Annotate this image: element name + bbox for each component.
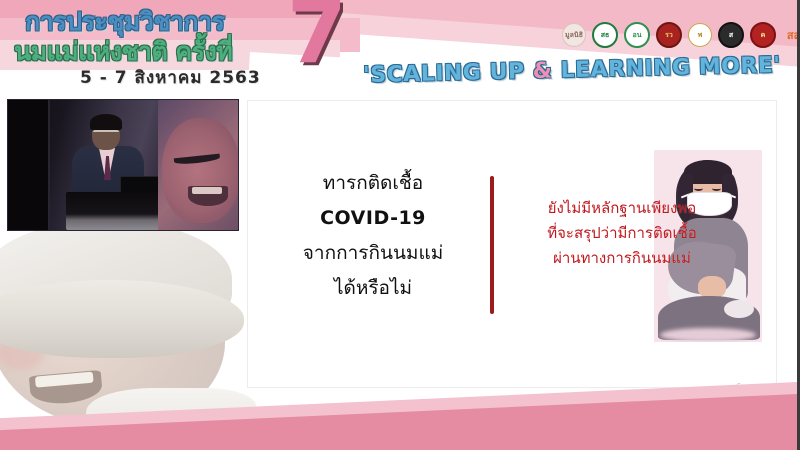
logo-mark-text: อน <box>633 30 642 41</box>
stage-panel-edge-shape <box>48 100 50 230</box>
mother-left-eye-shape <box>694 186 703 191</box>
logo-caption: มูลนิธิศูนย์นมแม่แห่งประเทศไทย <box>563 46 586 47</box>
speaker-hair-shape <box>90 114 122 131</box>
inset-baby-face-shape <box>162 118 238 223</box>
logo-caption: กระทรวงสาธารณสุข <box>594 46 618 48</box>
mother-foot-shape <box>724 300 754 318</box>
question-line-4: ได้หรือไม่ <box>260 271 486 306</box>
illustration-shadow-shape <box>660 328 756 342</box>
tagline-suffix: LEARNING MORE' <box>552 53 781 84</box>
footer-decorative-bands <box>0 372 800 450</box>
logo-mark-text: พ <box>698 30 703 41</box>
conference-banner: 7 การประชุมวิชาการ นมแม่แห่งชาติ ครั้งที… <box>0 0 800 98</box>
inset-baby-teeth-shape <box>192 187 222 194</box>
logo-mark-text: ค <box>761 30 766 41</box>
speaker-stage-photo <box>8 100 238 230</box>
answer-text-block: ยังไม่มีหลักฐานเพียงพอ ที่จะสรุปว่ามีการ… <box>502 196 742 271</box>
thaihealth-sss-logo: สสส <box>782 24 800 46</box>
stage-dark-panel-shape <box>8 100 48 230</box>
logo-caption: ตราพระราชทาน <box>689 46 712 47</box>
royal-college-logo: รวราชวิทยาลัย <box>656 22 682 48</box>
mother-right-eye-shape <box>712 186 721 191</box>
red-garuda-logo: คกรมการแพทย์ <box>750 22 776 48</box>
ministry-of-public-health-logo: สธกระทรวงสาธารณสุข <box>592 22 618 48</box>
logo-mark-text: สสส <box>787 26 800 44</box>
vertical-red-divider <box>490 176 494 314</box>
question-line-3: จากการกินนมแม่ <box>260 236 486 271</box>
thai-breastfeeding-foundation-logo: มูลนิธิมูลนิธิศูนย์นมแม่แห่งประเทศไทย <box>562 23 586 47</box>
footer-band-solid <box>0 442 800 450</box>
inset-baby-mouth-shape <box>188 186 228 206</box>
logo-caption: สภาการพยาบาล <box>720 46 744 48</box>
question-line-2: COVID-19 <box>260 201 486 236</box>
national-council-logo: สสภาการพยาบาล <box>718 22 744 48</box>
department-of-health-logo: อนกรมอนามัย <box>624 22 650 48</box>
logo-caption: ราชวิทยาลัย <box>658 46 682 48</box>
tagline-prefix: 'SCALING UP <box>363 59 533 88</box>
tagline-ampersand: & <box>532 58 552 83</box>
banner-date-range: 5 - 7 สิงหาคม 2563 <box>80 64 261 91</box>
logo-mark-text: ส <box>729 30 733 41</box>
logo-mark-text: รว <box>665 30 673 41</box>
answer-line-2: ที่จะสรุปว่ามีการติดเชื้อ <box>502 221 742 246</box>
logo-caption: กรมอนามัย <box>626 46 650 48</box>
presentation-slide: 7 การประชุมวิชาการ นมแม่แห่งชาติ ครั้งที… <box>0 0 800 450</box>
baby-hat-brim-shape <box>0 280 244 358</box>
answer-line-3: ผ่านทางการกินนมแม่ <box>502 246 742 271</box>
inset-baby-photo <box>158 100 238 230</box>
sponsor-logo-row: มูลนิธิมูลนิธิศูนย์นมแม่แห่งประเทศไทย สธ… <box>562 22 800 48</box>
logo-caption: กรมการแพทย์ <box>752 46 776 48</box>
question-line-1: ทารกติดเชื้อ <box>260 166 486 201</box>
banner-edition-number: 7 <box>287 0 347 76</box>
answer-line-1: ยังไม่มีหลักฐานเพียงพอ <box>502 196 742 221</box>
royal-emblem-logo: พตราพระราชทาน <box>688 23 712 47</box>
logo-mark-text: สธ <box>601 30 610 41</box>
speaker-glasses-shape <box>93 130 119 138</box>
logo-mark-text: มูลนิธิ <box>565 30 583 41</box>
question-text-block: ทารกติดเชื้อ COVID-19 จากการกินนมแม่ ได้… <box>260 166 486 306</box>
mother-hand-shape <box>698 276 726 298</box>
